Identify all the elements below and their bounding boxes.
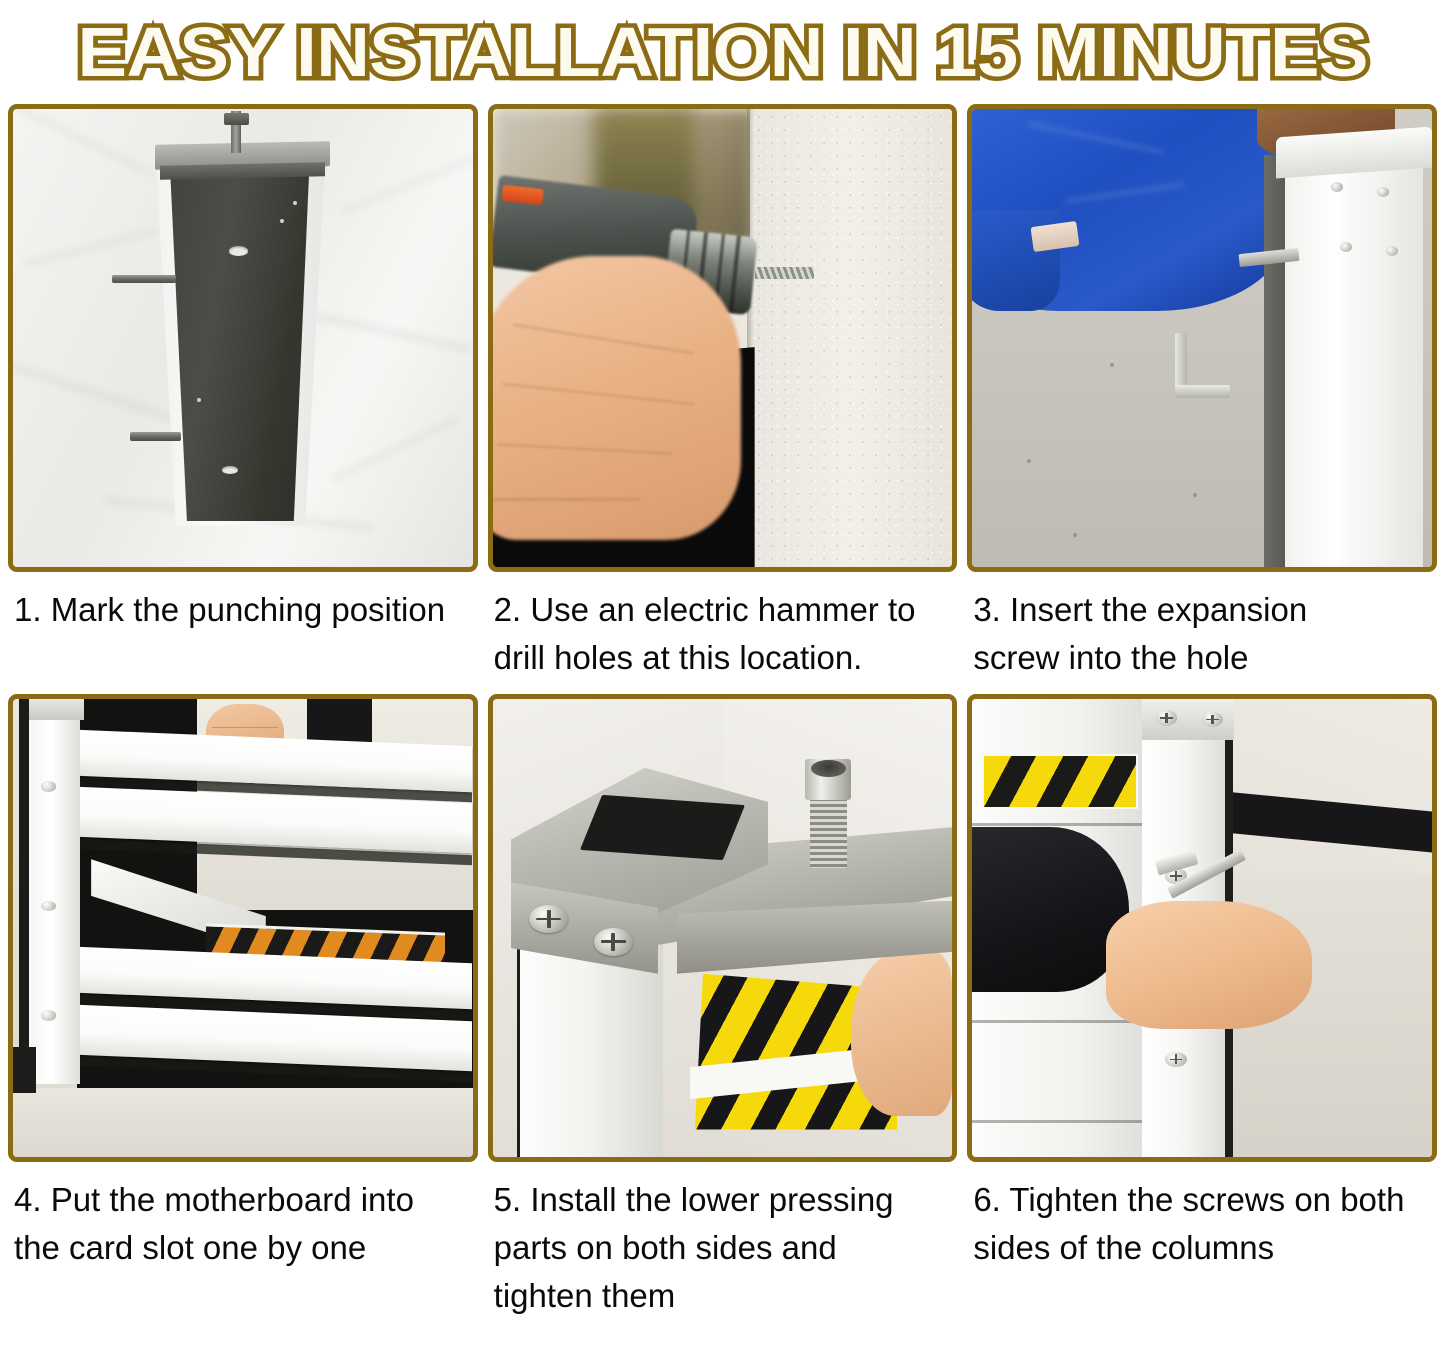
caption-line: 3. Insert the expansion (973, 586, 1435, 634)
caption-line: the card slot one by one (14, 1224, 476, 1272)
step-caption-6: 6. Tighten the screws on both sides of t… (967, 1162, 1437, 1302)
step-caption-4: 4. Put the motherboard into the card slo… (8, 1162, 478, 1302)
step-card-5: 5. Install the lower pressing parts on b… (488, 694, 958, 1320)
step-card-3: 3. Insert the expansion screw into the h… (967, 104, 1437, 694)
caption-line: parts on both sides and (494, 1224, 956, 1272)
caption-line: 4. Put the motherboard into (14, 1176, 476, 1224)
caption-line: screw into the hole (973, 634, 1435, 682)
caption-line: 1. Mark the punching position (14, 586, 476, 634)
step-caption-1: 1. Mark the punching position (8, 572, 478, 694)
photo-frame-2 (488, 104, 958, 572)
caption-line: sides of the columns (973, 1224, 1435, 1272)
header-banner: EASY INSTALLATION IN 15 MINUTES (0, 0, 1445, 104)
step-card-4: 4. Put the motherboard into the card slo… (8, 694, 478, 1320)
caption-line: 6. Tighten the screws on both (973, 1176, 1435, 1224)
photo-mark-punching-position (13, 109, 473, 567)
photo-drill-holes (493, 109, 953, 567)
step-card-6: 6. Tighten the screws on both sides of t… (967, 694, 1437, 1320)
step-caption-5: 5. Install the lower pressing parts on b… (488, 1162, 958, 1320)
photo-insert-motherboard (13, 699, 473, 1157)
caption-line: 2. Use an electric hammer to (494, 586, 956, 634)
photo-frame-3 (967, 104, 1437, 572)
caption-line: tighten them (494, 1272, 956, 1320)
photo-tighten-column-screws (972, 699, 1432, 1157)
installation-steps-grid: 1. Mark the punching position (0, 104, 1445, 1320)
photo-frame-6 (967, 694, 1437, 1162)
photo-install-pressing-parts (493, 699, 953, 1157)
caption-line: drill holes at this location. (494, 634, 956, 682)
step-caption-2: 2. Use an electric hammer to drill holes… (488, 572, 958, 694)
photo-frame-5 (488, 694, 958, 1162)
photo-frame-4 (8, 694, 478, 1162)
step-card-2: 2. Use an electric hammer to drill holes… (488, 104, 958, 694)
caption-line: 5. Install the lower pressing (494, 1176, 956, 1224)
step-card-1: 1. Mark the punching position (8, 104, 478, 694)
step-caption-3: 3. Insert the expansion screw into the h… (967, 572, 1437, 694)
photo-insert-expansion-screw (972, 109, 1432, 567)
page-title: EASY INSTALLATION IN 15 MINUTES (77, 16, 1367, 88)
photo-frame-1 (8, 104, 478, 572)
